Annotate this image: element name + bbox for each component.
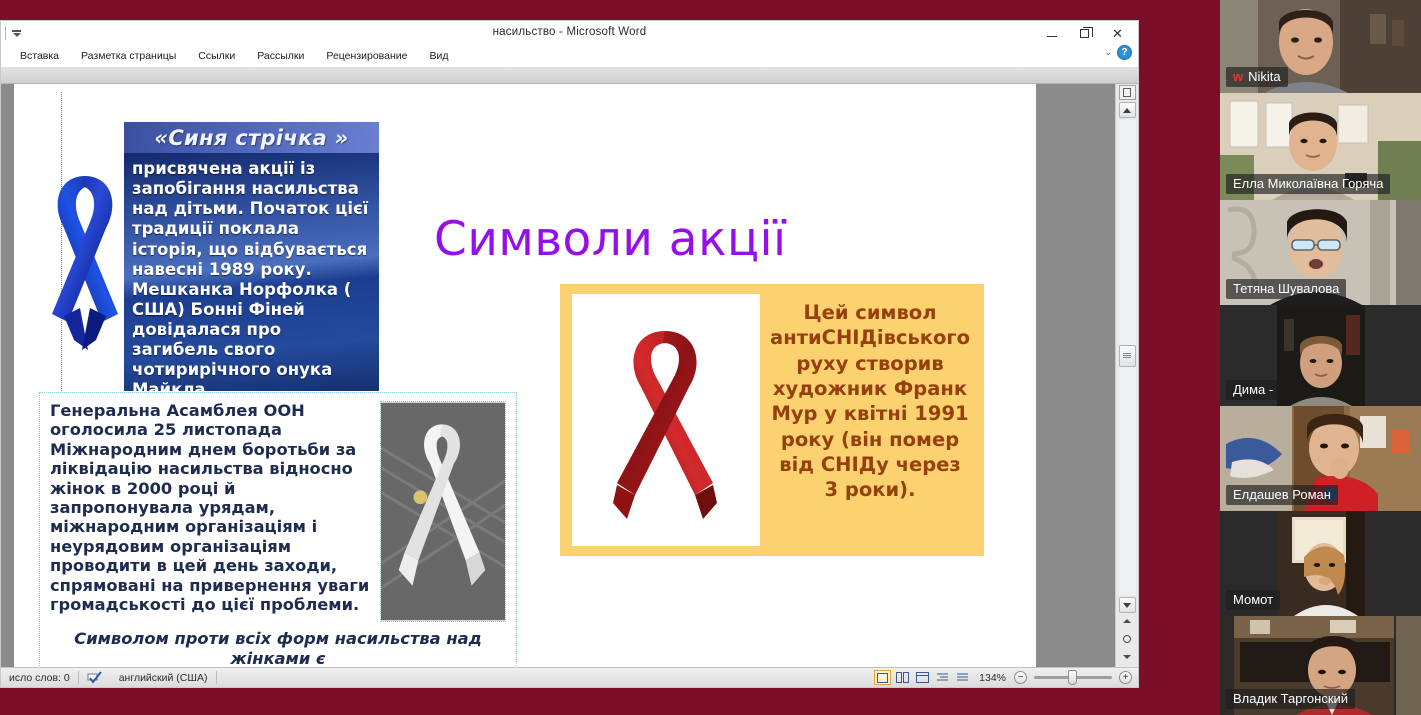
zoom-slider-handle[interactable]	[1068, 670, 1077, 685]
scrollbar-track[interactable]	[1119, 120, 1136, 595]
restore-button[interactable]	[1068, 22, 1101, 44]
un-footer-line1: Символом проти всіх форм насильства над …	[39, 629, 517, 667]
participant-name-badge: Момот	[1226, 590, 1280, 610]
full-screen-reading-view-icon[interactable]	[894, 670, 911, 685]
blue-ribbon-block: «Синя стрічка » присвячена акції із запо…	[34, 122, 379, 391]
participant-name-badge: Тетяна Шувалова	[1226, 279, 1346, 299]
video-participant-panel: w Nikita Елла Миколаївн	[1220, 0, 1421, 715]
zoom-level[interactable]: 134%	[974, 672, 1011, 684]
tab-references[interactable]: Ссылки	[187, 48, 246, 64]
participant-tile-nikita[interactable]: w Nikita	[1220, 0, 1421, 93]
participant-tile-tetyana[interactable]: Тетяна Шувалова	[1220, 200, 1421, 305]
page-thumbnail-icon[interactable]	[1119, 85, 1136, 100]
chevron-down-icon[interactable]: ⌄	[1104, 47, 1112, 58]
tab-view[interactable]: Вид	[418, 48, 459, 64]
language-indicator[interactable]: английский (США)	[111, 672, 216, 684]
word-window: насильство - Microsoft Word ✕ Вставка Ра…	[0, 20, 1139, 688]
participant-name: Елла Миколаївна Горяча	[1233, 176, 1383, 191]
participant-name: Владик Таргонский	[1233, 691, 1348, 706]
ribbon-right-controls: ⌄ ?	[1104, 45, 1132, 60]
select-browse-object-icon[interactable]	[1119, 631, 1136, 647]
help-icon[interactable]: ?	[1117, 45, 1132, 60]
proofing-icon-glyph	[87, 671, 103, 684]
un-block-text: Генеральна Асамблея ООН оголосила 25 лис…	[50, 401, 370, 665]
un-block-footer: Символом проти всіх форм насильства над …	[39, 629, 517, 667]
tab-review[interactable]: Рецензирование	[315, 48, 418, 64]
zoom-slider[interactable]	[1034, 676, 1112, 679]
zoom-in-button[interactable]: +	[1119, 671, 1132, 684]
draft-view-icon[interactable]	[954, 670, 971, 685]
participant-name: Елдашев Роман	[1233, 487, 1331, 502]
participant-name-badge: Дима -	[1226, 380, 1280, 400]
scroll-up-arrow-icon[interactable]	[1119, 102, 1136, 118]
red-ribbon-photo	[591, 313, 741, 528]
word-count[interactable]: исло слов: 0	[1, 672, 78, 684]
participant-name-badge: Елла Миколаївна Горяча	[1226, 174, 1390, 194]
proofing-check-icon[interactable]	[79, 671, 111, 684]
orange-panel-text: Цей символ антиСНІДівського руху створив…	[760, 284, 984, 556]
participant-name: Дима -	[1233, 382, 1273, 397]
page-canvas[interactable]: «Синя стрічка » присвячена акції із запо…	[1, 84, 1115, 667]
page-title: Символи акції	[434, 212, 787, 267]
document-page[interactable]: «Синя стрічка » присвячена акції із запо…	[14, 84, 1036, 667]
participant-name: Тетяна Шувалова	[1233, 281, 1339, 296]
blue-ribbon-illustration	[44, 154, 126, 390]
participant-name-badge: Владик Таргонский	[1226, 689, 1355, 709]
next-page-icon[interactable]	[1119, 649, 1136, 665]
title-bar: насильство - Microsoft Word ✕	[1, 21, 1138, 45]
mic-muted-icon: w	[1233, 69, 1243, 84]
vertical-scrollbar[interactable]	[1115, 84, 1138, 667]
blue-block-body: присвячена акції із запобігання насильст…	[124, 153, 379, 391]
participant-tile-ella[interactable]: Елла Миколаївна Горяча	[1220, 93, 1421, 200]
print-layout-view-icon[interactable]	[874, 670, 891, 685]
participant-name-badge: Елдашев Роман	[1226, 485, 1338, 505]
participant-name: Nikita	[1248, 69, 1281, 84]
tab-mailings[interactable]: Рассылки	[246, 48, 315, 64]
previous-page-icon[interactable]	[1119, 613, 1136, 629]
document-shell: «Синя стрічка » присвячена акції із запо…	[1, 84, 1138, 667]
participant-tile-dima[interactable]: Дима -	[1220, 305, 1421, 406]
close-button[interactable]: ✕	[1101, 22, 1134, 44]
web-layout-view-icon[interactable]	[914, 670, 931, 685]
tab-insert[interactable]: Вставка	[9, 48, 70, 64]
window-controls: ✕	[1035, 21, 1134, 45]
scrollbar-thumb[interactable]	[1119, 345, 1136, 367]
participant-tile-vladik[interactable]: Владик Таргонский	[1220, 616, 1421, 715]
status-divider-2	[216, 671, 217, 684]
scroll-down-arrow-icon[interactable]	[1119, 597, 1136, 613]
zoom-out-button[interactable]: −	[1014, 671, 1027, 684]
participant-tile-momot[interactable]: Момот	[1220, 511, 1421, 616]
orange-panel: Цей символ антиСНІДівського руху створив…	[560, 284, 984, 556]
status-bar: исло слов: 0 английский (США)	[1, 667, 1138, 687]
un-text-block: Генеральна Асамблея ООН оголосила 25 лис…	[39, 392, 517, 667]
white-ribbon-photo	[380, 401, 506, 622]
screen-root: насильство - Microsoft Word ✕ Вставка Ра…	[0, 0, 1421, 715]
tab-page-layout[interactable]: Разметка страницы	[70, 48, 187, 64]
participant-name-badge: w Nikita	[1226, 67, 1288, 87]
outline-view-icon[interactable]	[934, 670, 951, 685]
status-right-group: 134% − +	[874, 670, 1138, 685]
ribbon-tab-strip: Вставка Разметка страницы Ссылки Рассылк…	[1, 45, 1138, 67]
window-title: насильство - Microsoft Word	[1, 26, 1138, 38]
participant-tile-roman[interactable]: Елдашев Роман	[1220, 406, 1421, 511]
minimize-button[interactable]	[1035, 22, 1068, 44]
participant-name: Момот	[1233, 592, 1273, 607]
ribbon-collapsed-area	[1, 67, 1138, 84]
blue-block-title: «Синя стрічка »	[124, 122, 379, 153]
red-ribbon-frame	[572, 294, 760, 546]
